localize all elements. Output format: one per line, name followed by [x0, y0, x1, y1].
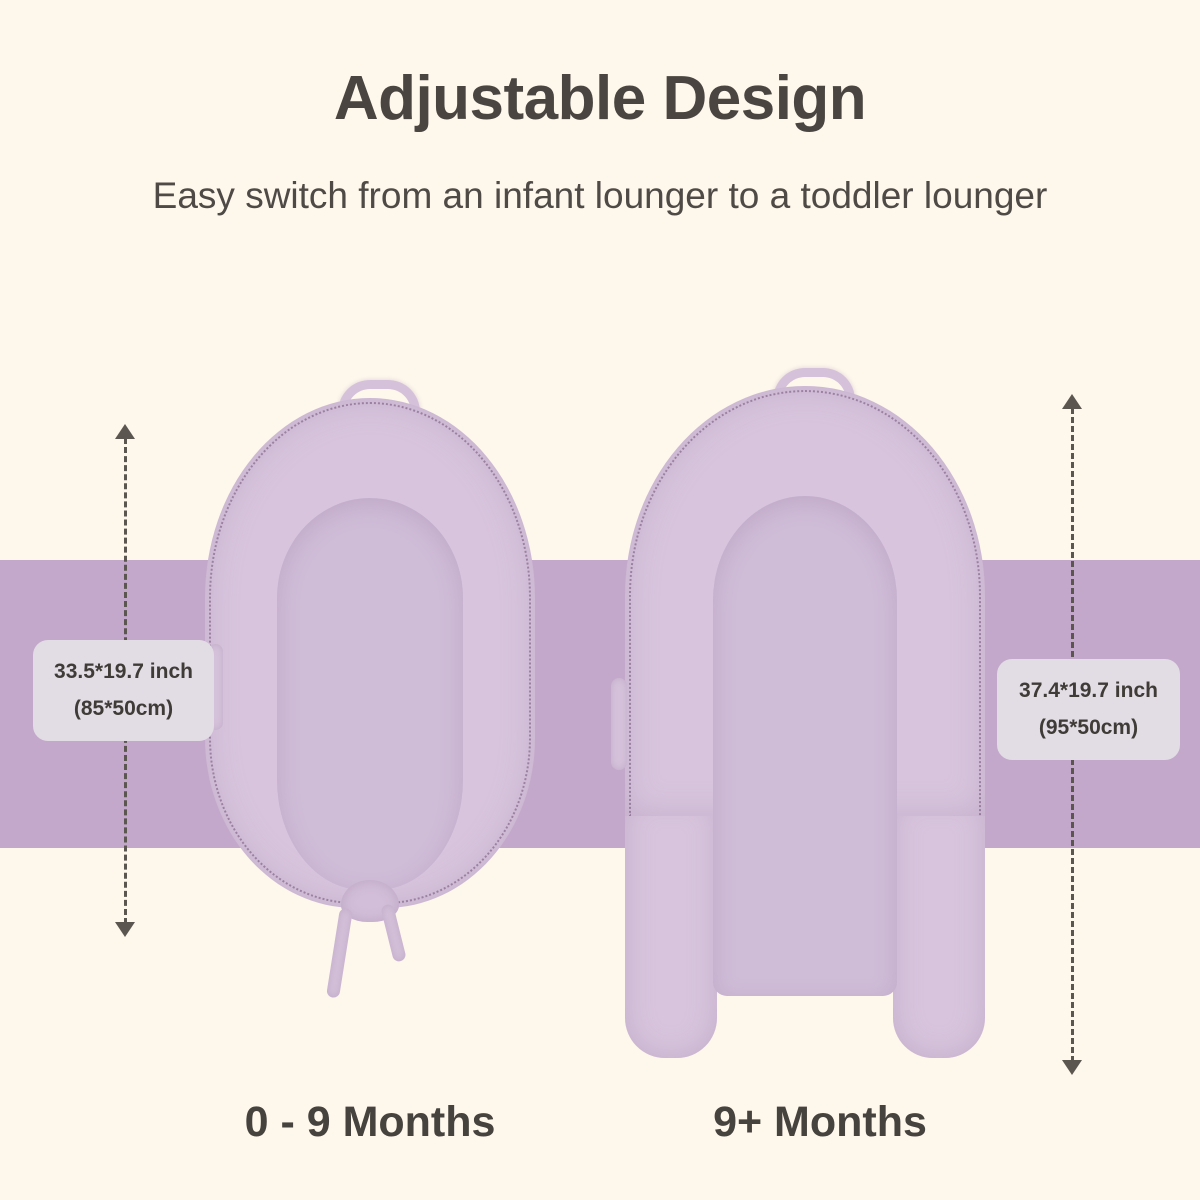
bumper-arm-left	[625, 798, 717, 1058]
dimension-inch-text: 37.4*19.7 inch	[1019, 679, 1158, 703]
infographic-canvas: Adjustable Design Easy switch from an in…	[0, 0, 1200, 1200]
dimension-label-toddler: 37.4*19.7 inch (95*50cm)	[997, 659, 1180, 760]
arrow-down-icon	[1062, 1060, 1082, 1075]
arrow-up-icon	[1062, 394, 1082, 409]
caption-infant-lounger: 0 - 9 Months	[190, 1098, 550, 1147]
product-image-infant-lounger	[205, 380, 535, 980]
tie-ribbon-right	[380, 903, 407, 962]
page-subtitle: Easy switch from an infant lounger to a …	[0, 176, 1200, 217]
dimension-label-infant: 33.5*19.7 inch (85*50cm)	[33, 640, 214, 741]
dimension-cm-text: (85*50cm)	[74, 697, 173, 721]
arrow-down-icon	[115, 922, 135, 937]
dimension-cm-text: (95*50cm)	[1039, 716, 1138, 740]
page-title: Adjustable Design	[0, 66, 1200, 131]
bumper-arm-right	[893, 798, 985, 1058]
fabric-tab	[611, 678, 627, 770]
mattress-area	[277, 498, 463, 890]
arrow-up-icon	[115, 424, 135, 439]
caption-toddler-lounger: 9+ Months	[640, 1098, 1000, 1147]
product-image-toddler-lounger	[625, 368, 985, 1098]
dimension-inch-text: 33.5*19.7 inch	[54, 660, 193, 684]
mattress-area	[713, 496, 897, 996]
tie-ribbon-left	[326, 908, 353, 999]
